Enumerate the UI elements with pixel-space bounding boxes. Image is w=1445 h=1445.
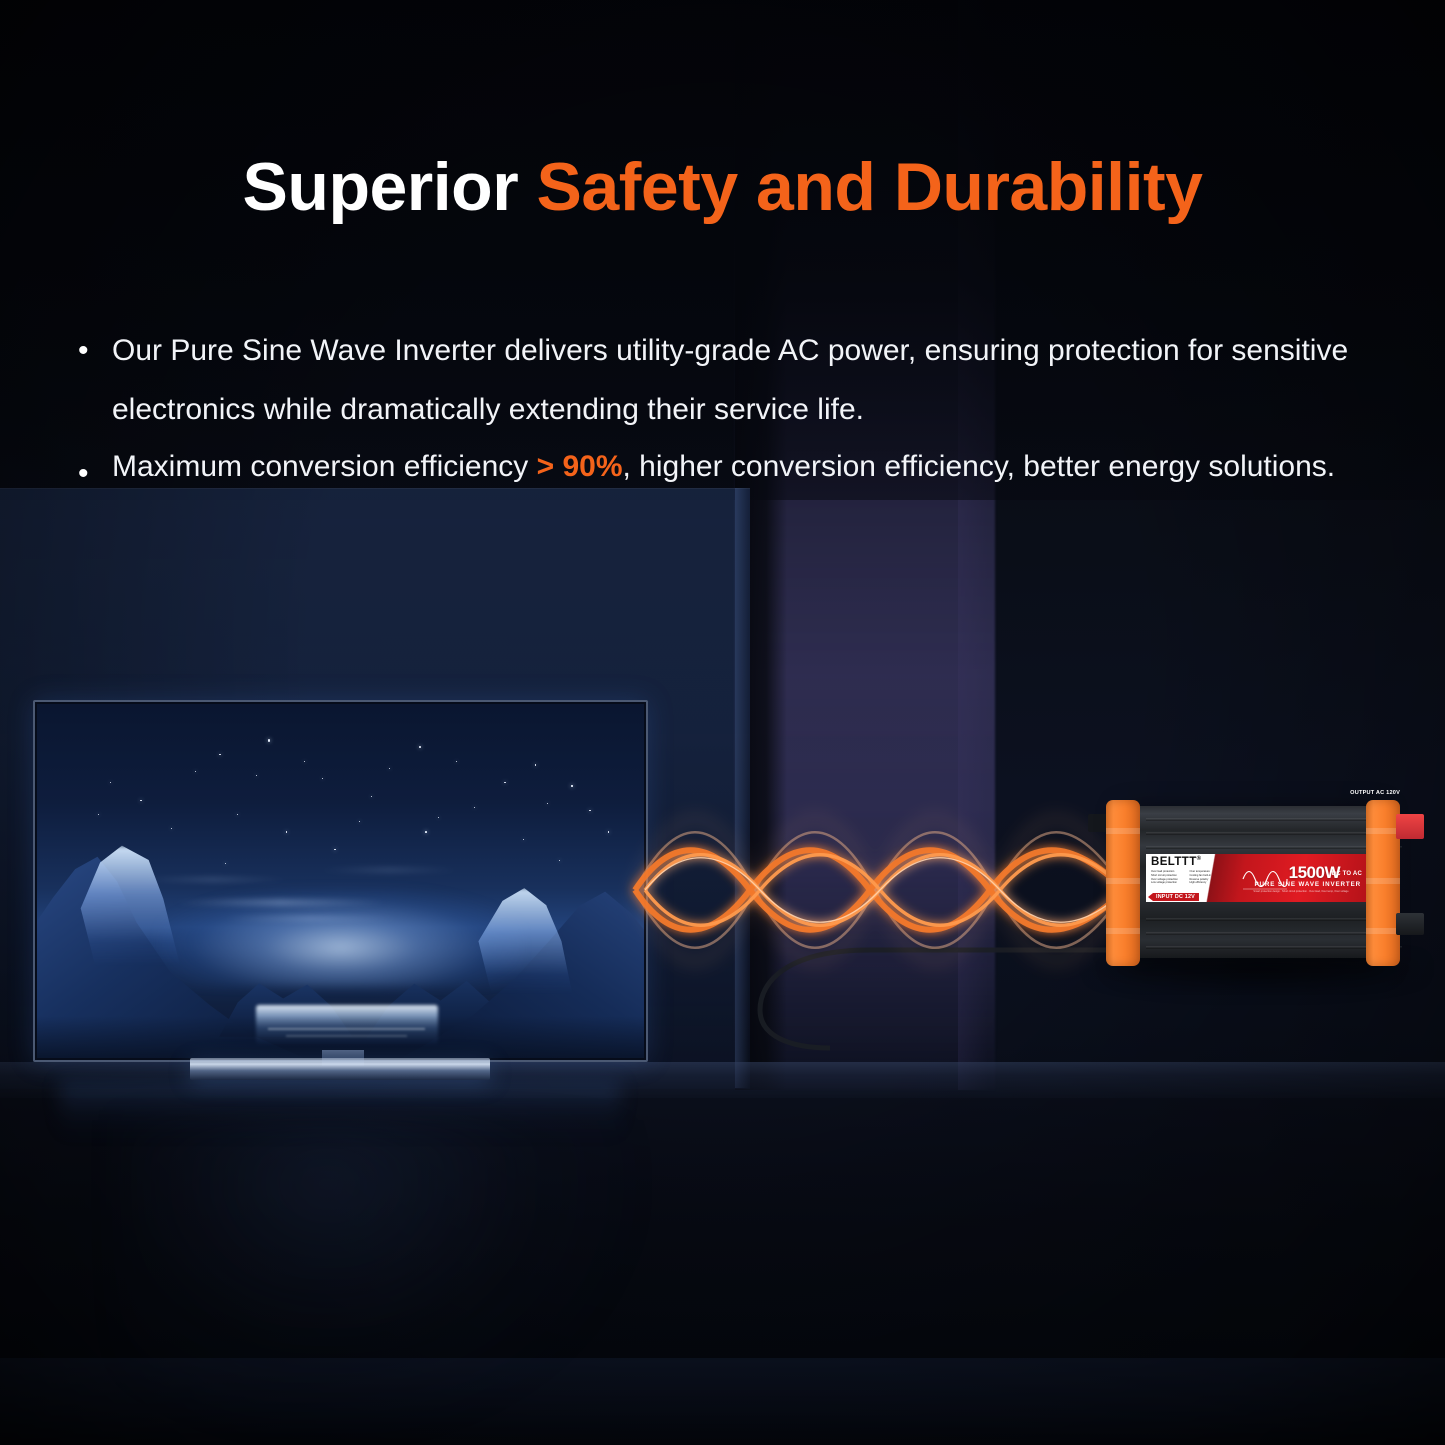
tv-stand-base bbox=[190, 1058, 490, 1080]
page-title: Superior Safety and Durability bbox=[0, 152, 1445, 223]
star-icon bbox=[547, 803, 548, 804]
star-icon bbox=[268, 739, 270, 741]
star-icon bbox=[523, 839, 524, 840]
tv-table-reflection bbox=[60, 1082, 620, 1138]
star-icon bbox=[559, 860, 560, 861]
efficiency-highlight: > 90% bbox=[537, 450, 623, 483]
list-item: • Maximum conversion efficiency > 90%, h… bbox=[78, 445, 1368, 504]
list-item: • Our Pure Sine Wave Inverter delivers u… bbox=[78, 322, 1368, 439]
star-icon bbox=[304, 761, 305, 762]
star-icon bbox=[225, 863, 226, 864]
star-icon bbox=[589, 810, 590, 811]
star-icon bbox=[425, 831, 427, 833]
brand-text: BELTTT bbox=[1151, 856, 1197, 868]
feature-item: High efficiency bbox=[1190, 881, 1226, 885]
label-fine-print: Smart protection design · Short circuit … bbox=[1241, 890, 1361, 894]
positive-terminal-icon bbox=[1396, 814, 1424, 839]
input-voltage-tag: INPUT DC 12V bbox=[1148, 893, 1199, 901]
feature-list: Over load protection Short circuit prote… bbox=[1151, 870, 1225, 885]
floor-light-sheen bbox=[120, 1120, 640, 1440]
star-icon bbox=[219, 754, 221, 756]
title-part-orange: Safety and Durability bbox=[537, 149, 1203, 225]
star-icon bbox=[140, 800, 142, 802]
star-icon bbox=[438, 817, 439, 818]
inverter-end-cap-right bbox=[1366, 800, 1400, 966]
bullet-marker-icon: • bbox=[78, 445, 112, 504]
tv-bezel bbox=[33, 700, 648, 1062]
bullet-text-before: Maximum conversion efficiency bbox=[112, 450, 537, 483]
star-icon bbox=[456, 761, 458, 763]
star-icon bbox=[98, 814, 99, 815]
brand-name: BELTTT® bbox=[1151, 856, 1201, 868]
output-voltage-tag: OUTPUT AC 120V bbox=[1350, 790, 1400, 796]
star-icon bbox=[504, 782, 505, 783]
conversion-type: DC TO AC bbox=[1332, 871, 1362, 877]
tv-screen-artwork bbox=[37, 704, 644, 1058]
television bbox=[33, 700, 648, 1062]
star-icon bbox=[237, 814, 238, 815]
star-icon bbox=[359, 821, 360, 822]
star-icon bbox=[171, 828, 172, 829]
pure-sine-wave-graphic bbox=[655, 795, 1125, 985]
bullet-marker-icon: • bbox=[78, 322, 112, 381]
bullet-text: Our Pure Sine Wave Inverter delivers uti… bbox=[112, 322, 1368, 439]
star-icon bbox=[571, 785, 572, 786]
title-part-white: Superior bbox=[243, 149, 537, 225]
power-inverter-product: BELTTT® Over load protection Short circu… bbox=[1102, 800, 1402, 968]
feature-bullet-list: • Our Pure Sine Wave Inverter delivers u… bbox=[78, 322, 1368, 510]
negative-terminal-icon bbox=[1396, 913, 1424, 935]
star-icon bbox=[322, 778, 323, 779]
star-icon bbox=[256, 775, 257, 776]
product-feature-image: BELTTT® Over load protection Short circu… bbox=[0, 0, 1445, 1445]
registered-mark: ® bbox=[1197, 856, 1202, 862]
star-icon bbox=[371, 796, 372, 797]
star-icon bbox=[535, 764, 537, 766]
feature-item: Low voltage protection bbox=[1151, 881, 1187, 885]
star-icon bbox=[286, 831, 287, 832]
star-icon bbox=[608, 831, 609, 832]
inverter-label: BELTTT® Over load protection Short circu… bbox=[1146, 854, 1366, 902]
bullet-text-after: , higher conversion efficiency, better e… bbox=[623, 450, 1336, 483]
star-icon bbox=[389, 768, 390, 769]
bullet-text: Maximum conversion efficiency > 90%, hig… bbox=[112, 445, 1368, 489]
star-icon bbox=[474, 807, 475, 808]
inverter-type-line: PURE SINE WAVE INVERTER bbox=[1254, 881, 1361, 888]
star-icon bbox=[110, 782, 111, 783]
inverter-end-cap-left bbox=[1106, 800, 1140, 966]
star-icon bbox=[419, 746, 421, 748]
star-icon bbox=[334, 849, 335, 850]
star-icon bbox=[195, 771, 196, 772]
